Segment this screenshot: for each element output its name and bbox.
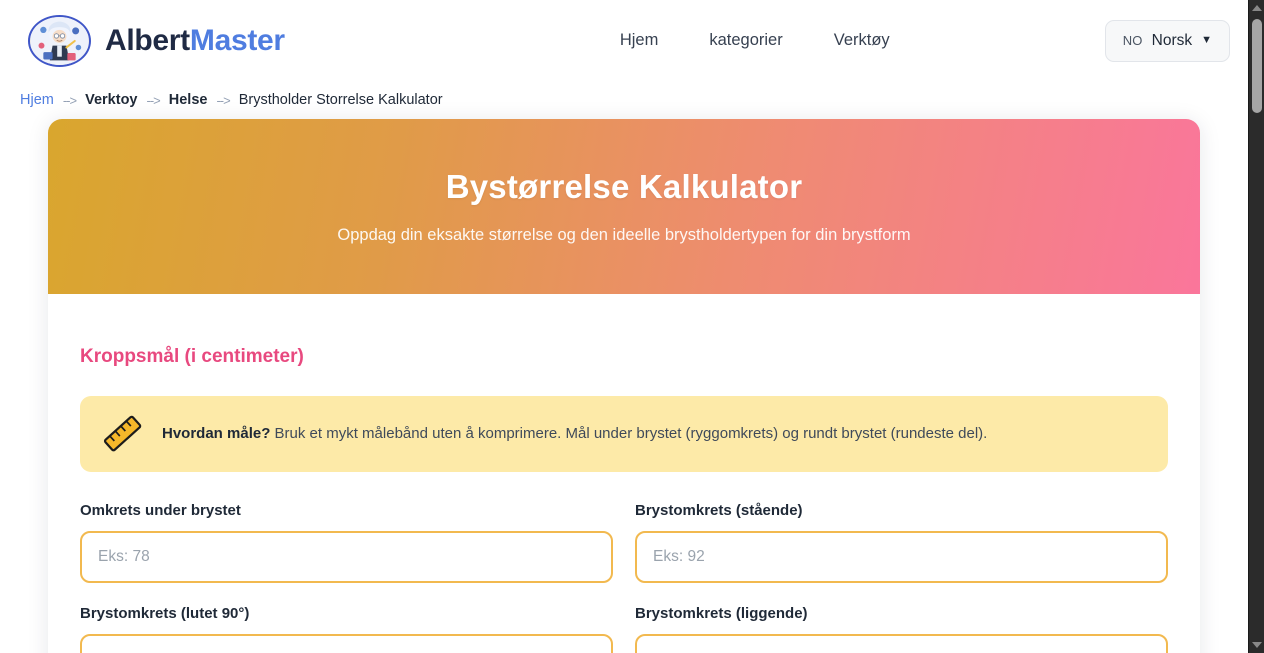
field-bust-standing: Brystomkrets (stående) — [635, 502, 1168, 583]
page-content: AlbertMaster Hjem kategorier Verktøy NO … — [0, 0, 1248, 653]
bust-leaning-input[interactable] — [80, 634, 613, 653]
nav-link-hjem[interactable]: Hjem — [620, 31, 659, 50]
language-name: Norsk — [1152, 32, 1192, 50]
bust-lying-input[interactable] — [635, 634, 1168, 653]
measurement-fields-grid: Omkrets under brystet Brystomkrets (ståe… — [80, 502, 1168, 653]
breadcrumb-item-current: Brystholder Storrelse Kalkulator — [239, 92, 443, 108]
field-underbust: Omkrets under brystet — [80, 502, 613, 583]
underbust-input[interactable] — [80, 531, 613, 583]
bust-standing-input[interactable] — [635, 531, 1168, 583]
brand-name: AlbertMaster — [105, 24, 285, 58]
nav-link-verktoy[interactable]: Verktøy — [834, 31, 890, 50]
chevron-down-icon: ▼ — [1201, 35, 1212, 46]
vertical-scrollbar[interactable] — [1248, 0, 1264, 653]
scroll-down-arrow-icon[interactable] — [1249, 637, 1264, 653]
nav-link-kategorier[interactable]: kategorier — [709, 31, 782, 50]
breadcrumb-item-helse[interactable]: Helse — [169, 92, 208, 108]
calculator-form: Kroppsmål (i centimeter) — [48, 294, 1200, 653]
brand-name-primary: Albert — [105, 24, 190, 57]
main-nav: Hjem kategorier Verktøy — [405, 31, 1105, 50]
field-label-bust-lying: Brystomkrets (liggende) — [635, 605, 1168, 622]
calculator-card: Bystørrelse Kalkulator Oppdag din eksakt… — [48, 119, 1200, 653]
breadcrumb-separator: --> — [216, 93, 229, 108]
page-subtitle: Oppdag din eksakte størrelse og den idee… — [337, 226, 910, 245]
brand-logo-link[interactable]: AlbertMaster — [28, 15, 285, 67]
breadcrumb-separator: --> — [63, 93, 76, 108]
field-bust-leaning: Brystomkrets (lutet 90°) — [80, 605, 613, 653]
scrollbar-thumb[interactable] — [1252, 19, 1262, 113]
site-header: AlbertMaster Hjem kategorier Verktøy NO … — [0, 0, 1248, 81]
hero-banner: Bystørrelse Kalkulator Oppdag din eksakt… — [48, 119, 1200, 294]
measurement-tip-box: Hvordan måle? Bruk et mykt målebånd uten… — [80, 396, 1168, 472]
breadcrumb-item-verktoy[interactable]: Verktoy — [85, 92, 137, 108]
field-label-bust-leaning: Brystomkrets (lutet 90°) — [80, 605, 613, 622]
page-title: Bystørrelse Kalkulator — [446, 168, 803, 206]
card-container: Bystørrelse Kalkulator Oppdag din eksakt… — [0, 119, 1248, 653]
measurement-tip-lead: Hvordan måle? — [162, 425, 270, 442]
section-title-measurements: Kroppsmål (i centimeter) — [80, 346, 1168, 368]
measurement-tip-body: Bruk et mykt målebånd uten å komprimere.… — [270, 425, 987, 442]
language-selector[interactable]: NO Norsk ▼ — [1105, 20, 1230, 62]
field-label-underbust: Omkrets under brystet — [80, 502, 613, 519]
scroll-up-arrow-icon[interactable] — [1249, 0, 1264, 16]
breadcrumb: Hjem --> Verktoy --> Helse --> Brysthold… — [0, 81, 1248, 119]
measurement-tip-text: Hvordan måle? Bruk et mykt målebånd uten… — [162, 423, 987, 445]
field-label-bust-standing: Brystomkrets (stående) — [635, 502, 1168, 519]
language-code: NO — [1123, 33, 1143, 48]
scientist-avatar-icon — [28, 15, 91, 67]
breadcrumb-item-hjem[interactable]: Hjem — [20, 92, 54, 108]
field-bust-lying: Brystomkrets (liggende) — [635, 605, 1168, 653]
brand-name-secondary: Master — [190, 24, 285, 57]
ruler-icon — [102, 416, 144, 452]
browser-viewport: AlbertMaster Hjem kategorier Verktøy NO … — [0, 0, 1264, 653]
breadcrumb-separator: --> — [147, 93, 160, 108]
